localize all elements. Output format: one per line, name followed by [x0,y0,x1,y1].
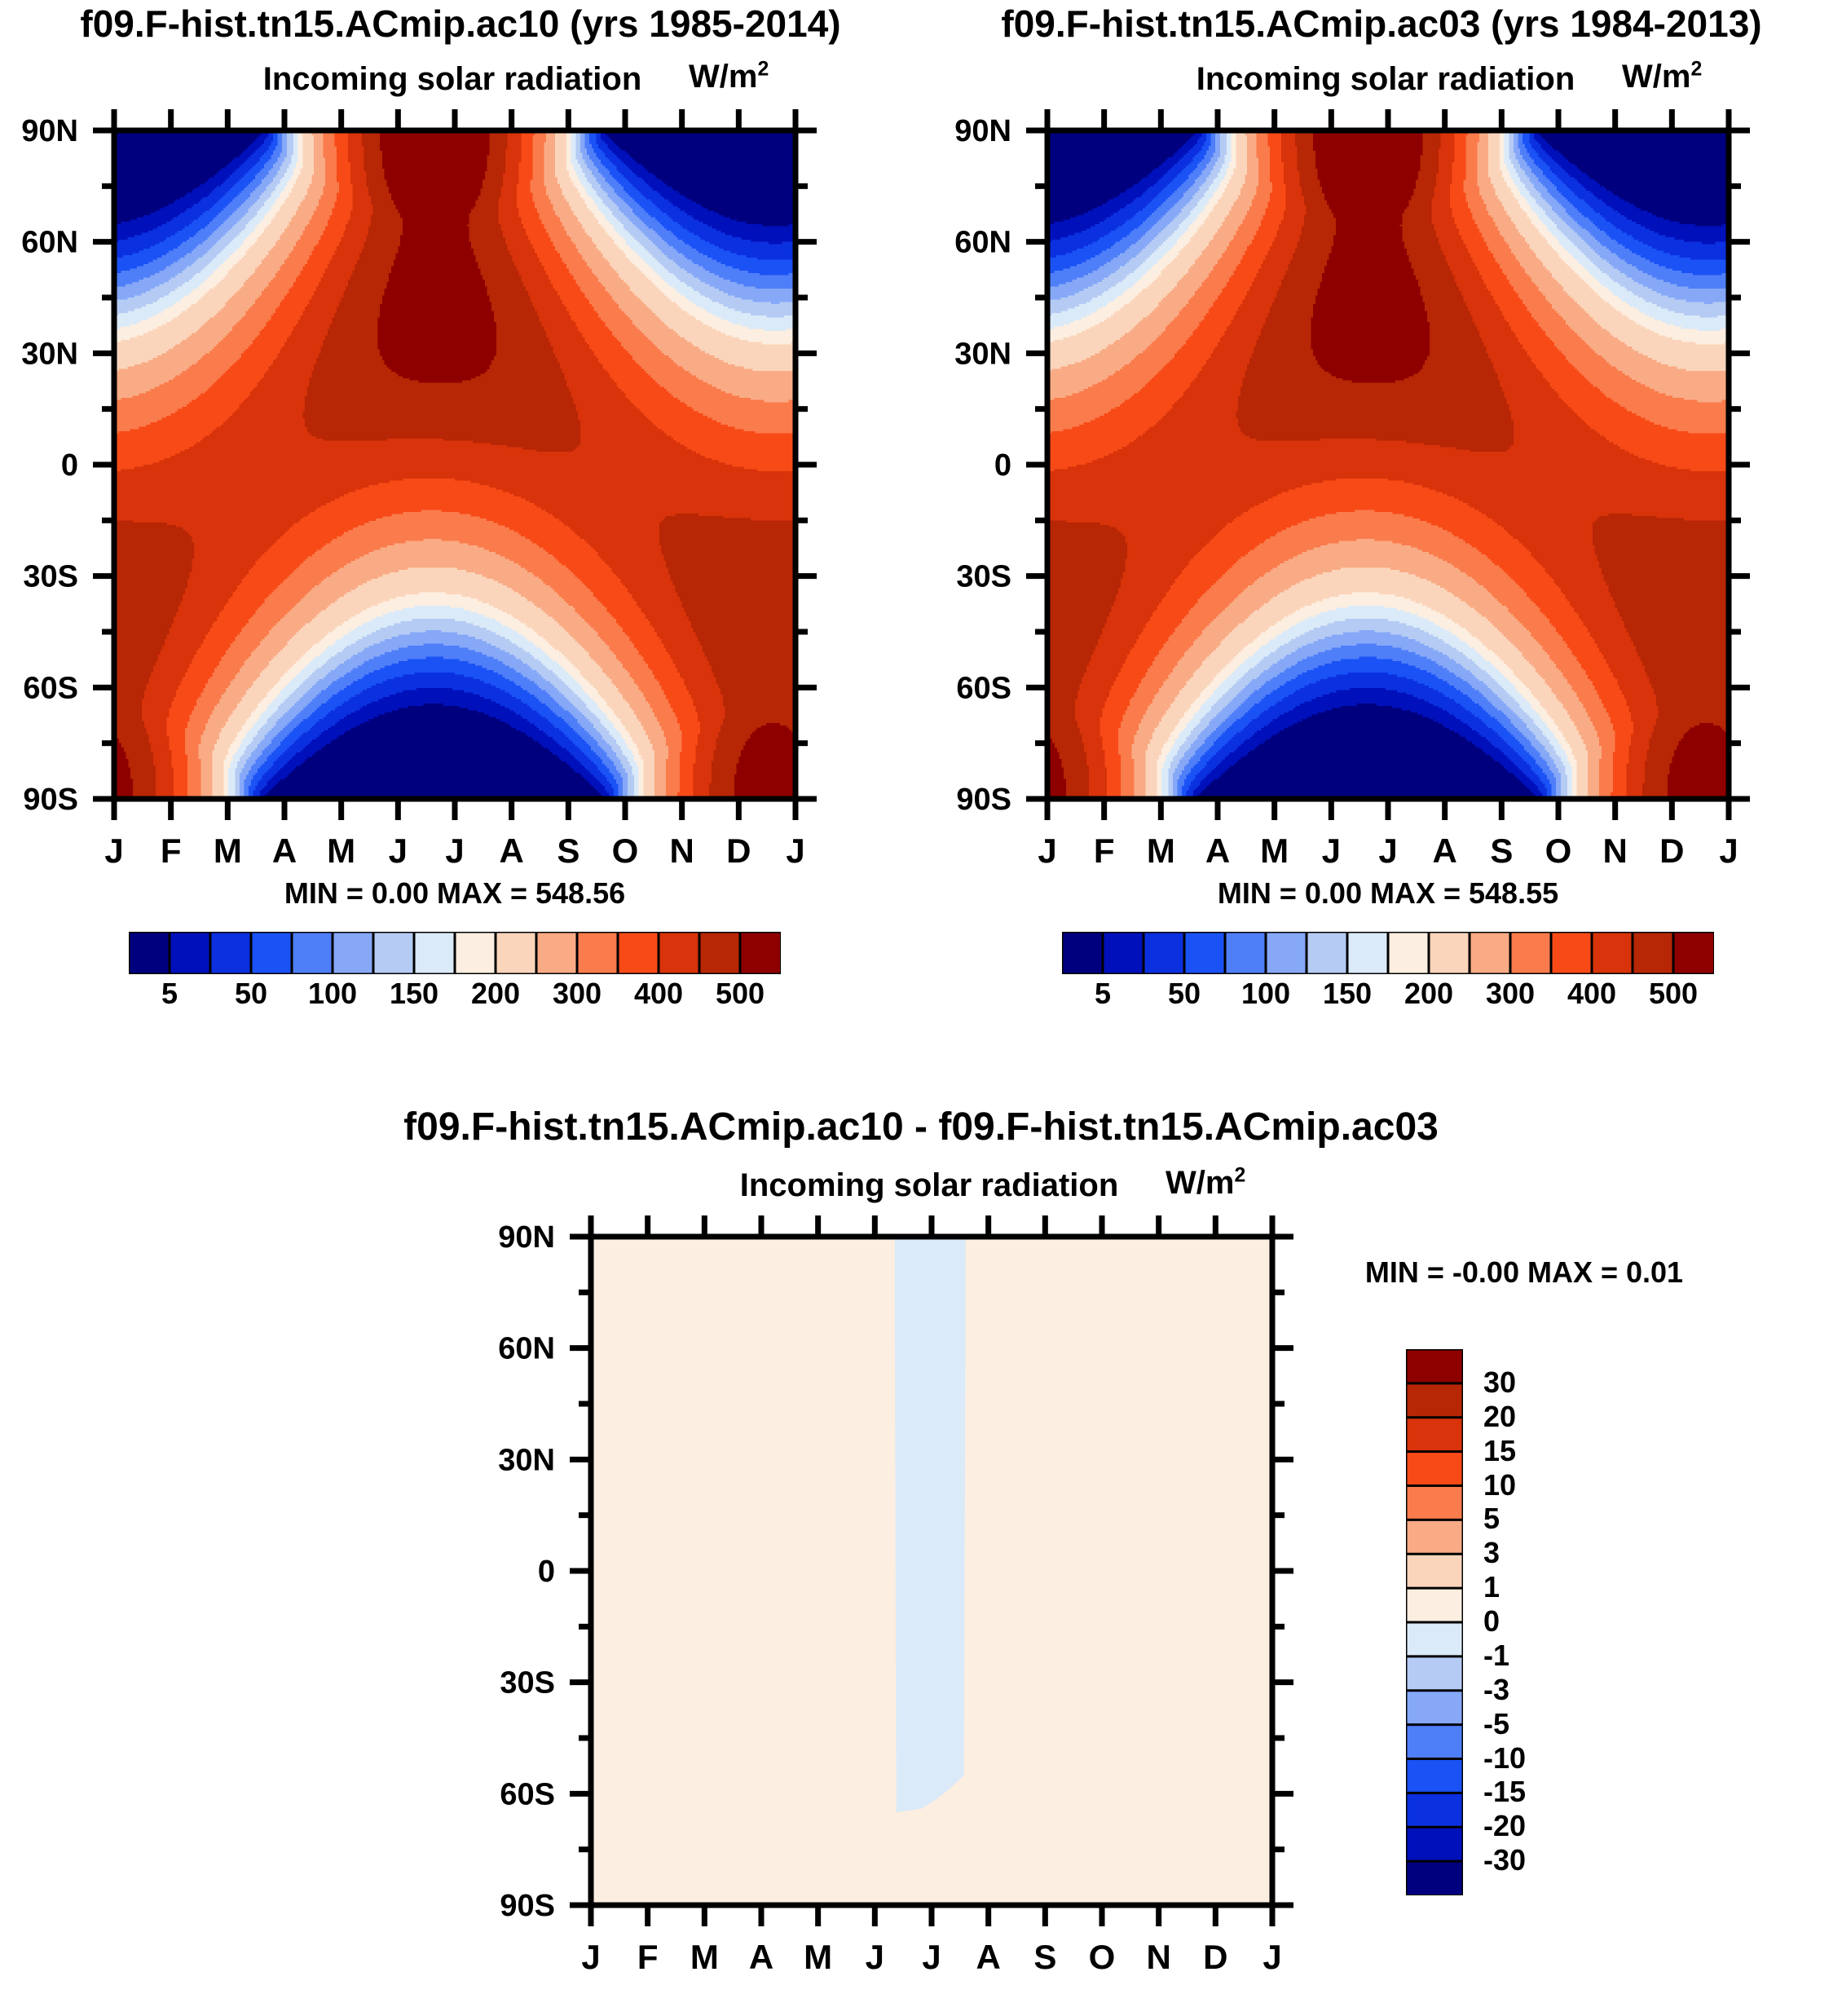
svg-text:M: M [804,1938,832,1976]
svg-text:A: A [976,1938,1000,1976]
right-panel-title: f09.F-hist.tn15.ACmip.ac03 (yrs 1984-201… [921,2,1842,46]
diff-colorbar[interactable] [1406,1349,1463,1895]
diff-plot-title: Incoming solar radiation [603,1167,1255,1204]
diff-colorbar-tick-label: 10 [1483,1468,1516,1502]
svg-text:30S: 30S [23,560,78,594]
svg-text:30N: 30N [498,1443,555,1477]
svg-text:A: A [1432,832,1456,870]
colorbar-tick-label: 500 [1624,977,1722,1011]
diff-colorbar-tick-label: 15 [1483,1434,1516,1468]
svg-text:60N: 60N [21,226,78,260]
diff-colorbar-tick-label: -1 [1483,1639,1509,1673]
left-colorbar-labels: 550100150200300400500 [129,977,781,1016]
svg-text:J: J [581,1938,600,1976]
right-units-label: W/m2 [1622,59,1702,95]
svg-text:A: A [272,832,297,870]
diff-colorbar-tick-label: -5 [1483,1707,1509,1741]
svg-text:90N: 90N [954,114,1011,148]
svg-text:J: J [1322,832,1341,870]
svg-text:J: J [1038,832,1056,870]
svg-text:60N: 60N [498,1332,555,1366]
svg-text:F: F [161,832,182,870]
svg-text:30S: 30S [500,1666,555,1701]
svg-text:A: A [749,1938,773,1976]
svg-text:90S: 90S [956,783,1011,817]
svg-text:90N: 90N [21,114,78,148]
svg-text:N: N [669,832,694,870]
left-panel-title: f09.F-hist.tn15.ACmip.ac10 (yrs 1985-201… [0,2,921,46]
svg-text:60N: 60N [954,226,1011,260]
svg-text:J: J [1263,1938,1281,1976]
svg-text:0: 0 [538,1555,555,1589]
svg-text:S: S [1490,832,1513,870]
diff-colorbar-tick-label: 20 [1483,1400,1516,1434]
diff-colorbar-tick-label: -15 [1483,1775,1526,1809]
diff-colorbar-tick-label: -20 [1483,1809,1526,1843]
svg-text:30N: 30N [21,337,78,371]
svg-text:N: N [1146,1938,1170,1976]
diff-colorbar-tick-label: 1 [1483,1570,1500,1604]
diff-colorbar-labels: 302015105310-1-3-5-10-15-20-30 [1467,1349,1589,1895]
svg-text:A: A [499,832,523,870]
diff-contour-plot[interactable]: 90N60N30N030S60S90SJFMAMJJASONDJ [591,1237,1272,1905]
svg-text:M: M [214,832,242,870]
svg-text:D: D [726,832,751,870]
colorbar-tick-label: 500 [691,977,789,1011]
svg-text:0: 0 [994,448,1011,483]
diff-units-base: W/m [1166,1165,1234,1201]
svg-text:A: A [1205,832,1230,870]
svg-text:S: S [1033,1938,1056,1976]
diff-colorbar-tick-label: -3 [1483,1673,1509,1707]
diff-minmax-label: MIN = -0.00 MAX = 0.01 [1263,1255,1785,1290]
left-contour-plot[interactable]: 90N60N30N030S60S90SJFMAMJJASONDJ [114,130,795,799]
svg-text:90S: 90S [23,783,78,817]
left-plot-title: Incoming solar radiation [126,61,778,98]
svg-text:J: J [104,832,123,870]
svg-text:30N: 30N [954,337,1011,371]
diff-units-label: W/m2 [1166,1165,1245,1202]
diff-colorbar-tick-label: 5 [1483,1502,1500,1536]
svg-text:J: J [866,1938,884,1976]
diff-colorbar-tick-label: 30 [1483,1365,1516,1400]
left-units-label: W/m2 [689,59,769,95]
right-colorbar[interactable] [1062,932,1714,974]
right-minmax-label: MIN = 0.00 MAX = 548.55 [1047,876,1729,911]
svg-text:J: J [1719,832,1738,870]
svg-text:M: M [690,1938,719,1976]
svg-text:J: J [922,1938,941,1976]
svg-text:90S: 90S [500,1889,555,1923]
right-colorbar-labels: 550100150200300400500 [1062,977,1714,1016]
svg-text:O: O [612,832,639,870]
svg-text:30S: 30S [956,560,1011,594]
left-units-base: W/m [689,59,757,95]
svg-text:90N: 90N [498,1220,555,1255]
svg-text:J: J [786,832,804,870]
left-units-exponent: 2 [757,59,769,81]
svg-text:S: S [557,832,579,870]
svg-text:D: D [1659,832,1684,870]
svg-text:0: 0 [61,448,78,483]
left-minmax-label: MIN = 0.00 MAX = 548.56 [114,876,795,911]
svg-text:60S: 60S [500,1777,555,1811]
svg-text:O: O [1089,1938,1116,1976]
svg-text:O: O [1545,832,1572,870]
svg-text:60S: 60S [23,671,78,705]
right-units-exponent: 2 [1690,59,1702,81]
svg-text:60S: 60S [956,671,1011,705]
svg-text:M: M [327,832,355,870]
svg-text:J: J [1378,832,1397,870]
diff-colorbar-tick-label: -30 [1483,1843,1526,1877]
right-contour-plot[interactable]: 90N60N30N030S60S90SJFMAMJJASONDJ [1047,130,1729,799]
svg-text:F: F [637,1938,659,1976]
svg-text:M: M [1260,832,1289,870]
right-plot-title: Incoming solar radiation [1060,61,1712,98]
svg-text:D: D [1203,1938,1227,1976]
svg-text:N: N [1602,832,1627,870]
svg-text:M: M [1147,832,1175,870]
diff-units-exponent: 2 [1234,1165,1245,1187]
diff-colorbar-tick-label: 0 [1483,1604,1500,1639]
right-units-base: W/m [1622,59,1690,95]
svg-text:J: J [389,832,408,870]
svg-text:F: F [1094,832,1115,870]
diff-colorbar-tick-label: 3 [1483,1536,1500,1570]
svg-text:J: J [445,832,464,870]
diff-panel-title: f09.F-hist.tn15.ACmip.ac10 - f09.F-hist.… [0,1105,1842,1149]
diff-colorbar-tick-label: -10 [1483,1741,1526,1776]
left-colorbar[interactable] [129,932,781,974]
